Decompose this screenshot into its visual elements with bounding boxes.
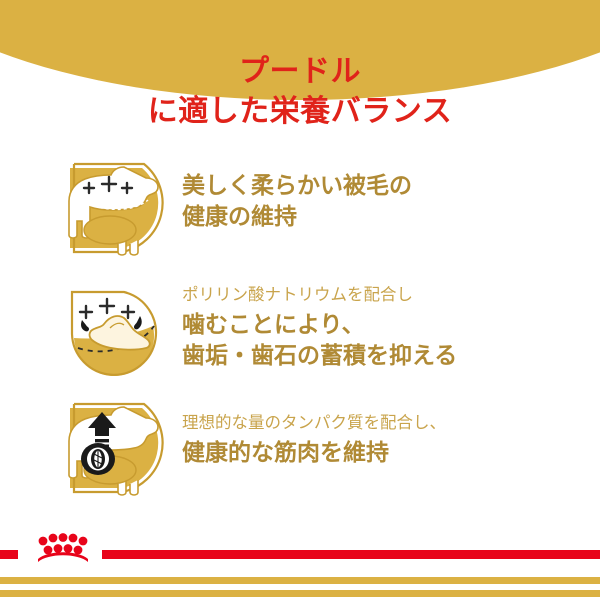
benefit-main-line: 健康的な筋肉を維持: [182, 437, 600, 468]
benefit-sub-line: 理想的な量のタンパク質を配合し、: [182, 412, 600, 436]
page-title: プードル に適した栄養バランス: [0, 52, 600, 132]
dog-muscle-arrow-icon: [64, 400, 168, 496]
benefit-sub-line: ポリリン酸ナトリウムを配合し: [182, 284, 600, 308]
product-feature-panel: プードル に適した栄養バランス: [0, 0, 600, 600]
footer-gold-bar-upper: [0, 577, 600, 584]
benefit-text: 美しく柔らかい被毛の 健康の維持: [168, 160, 600, 232]
benefit-item: 理想的な量のタンパク質を配合し、 健康的な筋肉を維持: [0, 400, 600, 508]
benefit-item: ポリリン酸ナトリウムを配合し 噛むことにより、 歯垢・歯石の蓄積を抑える: [0, 282, 600, 390]
page-title-line-1: プードル: [0, 52, 600, 92]
benefit-text: 理想的な量のタンパク質を配合し、 健康的な筋肉を維持: [168, 400, 600, 468]
benefit-main-line: 歯垢・歯石の蓄積を抑える: [182, 340, 600, 371]
benefit-main-line: 健康の維持: [182, 201, 600, 232]
footer-gold-bar-lower: [0, 590, 600, 597]
benefit-text: ポリリン酸ナトリウムを配合し 噛むことにより、 歯垢・歯石の蓄積を抑える: [168, 282, 600, 371]
dog-coat-sparkle-icon: [64, 160, 168, 256]
page-title-line-2: に適した栄養バランス: [0, 92, 600, 132]
royal-canin-crown-logo: [22, 531, 98, 569]
tooth-sparkle-icon: [64, 282, 168, 378]
benefit-main-line: 美しく柔らかい被毛の: [182, 170, 600, 201]
benefit-item: 美しく柔らかい被毛の 健康の維持: [0, 160, 600, 268]
benefit-main-line: 噛むことにより、: [182, 309, 600, 340]
benefit-list: 美しく柔らかい被毛の 健康の維持: [0, 160, 600, 508]
